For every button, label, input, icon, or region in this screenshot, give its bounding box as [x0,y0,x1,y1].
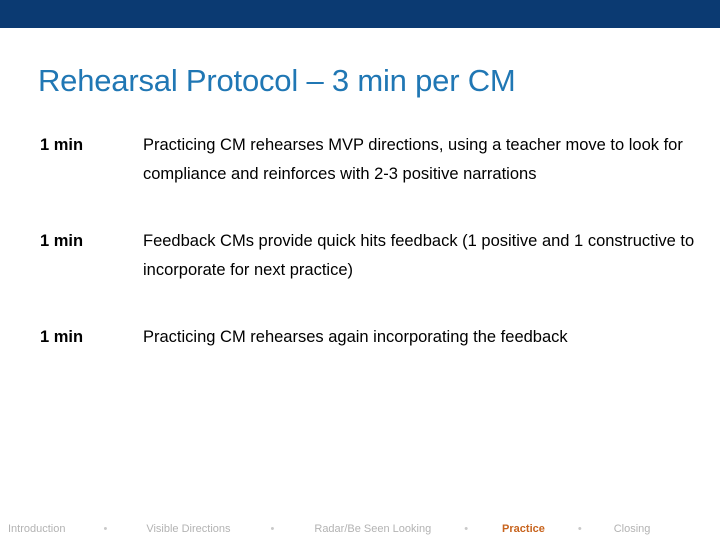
protocol-step-row: 1 min Practicing CM rehearses again inco… [0,323,720,352]
protocol-step-row: 1 min Feedback CMs provide quick hits fe… [0,227,720,285]
footer-nav-item-closing[interactable]: Closing [614,521,651,537]
footer-nav-item-visible-directions[interactable]: Visible Directions [146,521,230,537]
step-description-text: Practicing CM rehearses again incorporat… [143,323,720,352]
step-duration-label: 1 min [40,323,135,352]
top-accent-bar [0,0,720,28]
footer-section-nav: Introduction • Visible Directions • Rada… [0,518,720,540]
step-description-text: Practicing CM rehearses MVP directions, … [143,131,720,189]
step-duration-label: 1 min [40,131,135,160]
footer-separator-bullet-icon: • [103,521,107,537]
footer-nav-item-radar-be-seen-looking[interactable]: Radar/Be Seen Looking [314,521,431,537]
footer-nav-item-practice[interactable]: Practice [502,521,545,537]
footer-separator-bullet-icon: • [464,521,468,537]
protocol-step-row: 1 min Practicing CM rehearses MVP direct… [0,131,720,189]
footer-nav-item-introduction[interactable]: Introduction [8,521,65,537]
slide-title: Rehearsal Protocol – 3 min per CM [38,62,682,100]
protocol-step-list: 1 min Practicing CM rehearses MVP direct… [0,131,720,352]
footer-separator-bullet-icon: • [578,521,582,537]
step-description-text: Feedback CMs provide quick hits feedback… [143,227,720,285]
footer-separator-bullet-icon: • [271,521,275,537]
step-duration-label: 1 min [40,227,135,256]
